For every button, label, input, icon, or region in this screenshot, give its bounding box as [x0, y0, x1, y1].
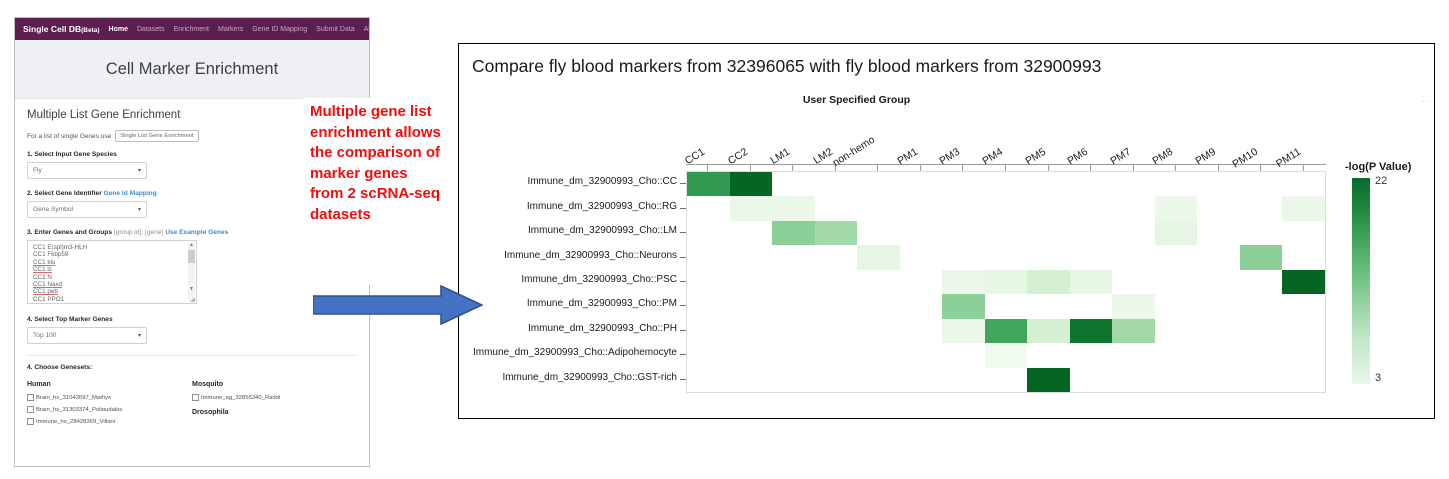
- colorbar-title: -log(P Value): [1345, 161, 1411, 173]
- heatmap-cell[interactable]: [1155, 196, 1198, 220]
- heatmap-cell[interactable]: [1282, 196, 1325, 220]
- y-axis-tick-label: Immune_dm_32900993_Cho::LM: [459, 225, 677, 236]
- identifier-label-text: 2. Select Gene Identifier: [27, 190, 102, 197]
- heatmap-cell[interactable]: [942, 270, 985, 294]
- nav-item-home[interactable]: Home: [109, 26, 128, 33]
- geneset-checkbox-item[interactable]: Brain_hs_31042697_Mathys: [27, 394, 192, 401]
- geneset-label: Immune_ag_32855340_Raddi: [201, 395, 280, 401]
- colorbar-max-label: 22: [1375, 175, 1387, 187]
- single-list-hint-text: For a list of single Genes use: [27, 133, 111, 140]
- genes-textarea-content: CC1 E(spl)m3-HLH CC1 Fkbp59 CC1 klu CC1 …: [28, 241, 196, 306]
- nav-item-markers[interactable]: Markers: [218, 26, 243, 33]
- geneset-label: Immune_hs_28428369_Villani: [36, 419, 115, 425]
- x-axis-title: User Specified Group: [459, 94, 1434, 106]
- species-value: Fly: [33, 167, 42, 174]
- genesets-section: 4. Choose Genesets: Human Brain_hs_31042…: [27, 355, 357, 430]
- page-header: Cell Marker Enrichment: [15, 40, 369, 99]
- brand-name: Single Cell DB: [23, 24, 81, 34]
- chevron-down-icon: ▾: [138, 332, 141, 339]
- scroll-up-icon[interactable]: ▲: [189, 242, 194, 248]
- nav-item-datasets[interactable]: Datasets: [137, 26, 165, 33]
- heatmap-cell[interactable]: [730, 196, 773, 220]
- figure-title: Compare fly blood markers from 32396065 …: [472, 56, 1101, 77]
- geneset-group-label: Drosophila: [192, 409, 357, 416]
- top-markers-select[interactable]: Top 100 ▾: [27, 327, 147, 344]
- scroll-down-icon[interactable]: ▼: [189, 286, 194, 292]
- identifier-value: Gene Symbol: [33, 206, 73, 213]
- callout-text: Multiple gene list enrichment allows the…: [303, 98, 448, 226]
- nav-item-submit-data[interactable]: Submit Data: [316, 26, 355, 33]
- checkbox-icon[interactable]: [192, 394, 199, 401]
- geneset-group-label: Mosquito: [192, 381, 357, 388]
- checkbox-icon[interactable]: [27, 394, 34, 401]
- geneset-checkbox-item[interactable]: Immune_ag_32855340_Raddi: [192, 394, 357, 401]
- heatmap-cell[interactable]: [1070, 319, 1113, 343]
- geneset-label: Brain_hs_31303374_Polioudakis: [36, 407, 122, 413]
- heatmap-cell[interactable]: [1112, 294, 1155, 318]
- gene-line: CC1 PPO1: [33, 296, 191, 303]
- single-list-gene-enrichment-button[interactable]: Single List Gene Enrichment: [115, 130, 198, 142]
- genes-scrollbar[interactable]: ▲ ▼: [188, 242, 195, 302]
- y-axis-tick-label: Immune_dm_32900993_Cho::PM: [459, 298, 677, 309]
- geneset-group-label: Human: [27, 381, 192, 388]
- geneset-checkbox-item[interactable]: Immune_hs_28428369_Villani: [27, 418, 192, 425]
- navbar: Single Cell DB(Beta) Home Datasets Enric…: [15, 18, 369, 40]
- gene-line: CC1 lz: [33, 266, 191, 273]
- brand-beta: (Beta): [81, 27, 99, 34]
- heatmap-cell[interactable]: [985, 343, 1028, 367]
- heatmap-plot-area[interactable]: [686, 171, 1326, 393]
- figure-corner-marks: ..: [1422, 97, 1430, 104]
- chevron-down-icon: ▾: [138, 206, 141, 213]
- gene-id-mapping-link[interactable]: Gene Id Mapping: [104, 190, 157, 197]
- genesets-header: 4. Choose Genesets:: [27, 364, 357, 371]
- checkbox-icon[interactable]: [27, 418, 34, 425]
- heatmap-cell[interactable]: [1027, 368, 1070, 392]
- y-axis-tick-label: Immune_dm_32900993_Cho::CC: [459, 176, 677, 187]
- page-title: Cell Marker Enrichment: [106, 60, 278, 79]
- y-axis-tick-label: Immune_dm_32900993_Cho::PSC: [459, 274, 677, 285]
- heatmap-cell[interactable]: [1240, 245, 1283, 269]
- heatmap-cell[interactable]: [687, 172, 730, 196]
- identifier-select[interactable]: Gene Symbol ▾: [27, 201, 147, 218]
- use-example-genes-link[interactable]: Use Example Genes: [165, 229, 228, 236]
- heatmap-cell[interactable]: [1027, 270, 1070, 294]
- checkbox-icon[interactable]: [27, 406, 34, 413]
- genes-textarea[interactable]: CC1 E(spl)m3-HLH CC1 Fkbp59 CC1 klu CC1 …: [27, 240, 197, 304]
- heatmap-cell[interactable]: [857, 245, 900, 269]
- geneset-column-mosquito: Mosquito Immune_ag_32855340_Raddi Drosop…: [192, 381, 357, 430]
- top-markers-label: 4. Select Top Marker Genes: [27, 316, 357, 323]
- heatmap-cell[interactable]: [772, 196, 815, 220]
- resize-grip-icon[interactable]: ◢: [190, 296, 195, 303]
- gene-line: CC1 peb: [33, 288, 191, 295]
- gene-line: CC1 Fkbp59: [33, 251, 191, 258]
- y-axis-tick-label: Immune_dm_32900993_Cho::GST-rich: [459, 372, 677, 383]
- gene-line: CC1 klu: [33, 259, 191, 266]
- heatmap-cell[interactable]: [1155, 221, 1198, 245]
- nav-item-gene-id-mapping[interactable]: Gene ID Mapping: [252, 26, 307, 33]
- top-markers-value: Top 100: [33, 332, 56, 339]
- geneset-label: Brain_hs_31042697_Mathys: [36, 395, 111, 401]
- nav-item-about[interactable]: About: [364, 26, 370, 33]
- colorbar-min-label: 3: [1375, 372, 1381, 384]
- genes-label-text: 3. Enter Genes and Groups: [27, 229, 112, 236]
- y-axis-tick-label: Immune_dm_32900993_Cho::RG: [459, 201, 677, 212]
- heatmap-cell[interactable]: [772, 221, 815, 245]
- heatmap-cell[interactable]: [1282, 270, 1325, 294]
- heatmap-cell[interactable]: [985, 270, 1028, 294]
- gene-line: CC1 N: [33, 274, 191, 281]
- blue-arrow-icon: [313, 285, 483, 325]
- heatmap-cell[interactable]: [1070, 270, 1113, 294]
- gene-line: CC1 Naxd: [33, 281, 191, 288]
- colorbar-gradient: [1352, 178, 1370, 384]
- x-axis-tick: [1303, 164, 1304, 171]
- gene-line: CC1 E(spl)m3-HLH: [33, 244, 191, 251]
- chevron-down-icon: ▾: [138, 167, 141, 174]
- geneset-checkbox-item[interactable]: Brain_hs_31303374_Polioudakis: [27, 406, 192, 413]
- brand-logo[interactable]: Single Cell DB(Beta): [23, 24, 100, 34]
- y-axis-tick-label: Immune_dm_32900993_Cho::PH: [459, 323, 677, 334]
- heatmap-cell[interactable]: [942, 294, 985, 318]
- heatmap-figure: Compare fly blood markers from 32396065 …: [458, 43, 1435, 419]
- y-axis-tick-label: Immune_dm_32900993_Cho::Neurons: [459, 250, 677, 261]
- heatmap-cell[interactable]: [942, 319, 985, 343]
- geneset-column-human: Human Brain_hs_31042697_Mathys Brain_hs_…: [27, 381, 192, 430]
- species-select[interactable]: Fly ▾: [27, 162, 147, 179]
- callout-box: Multiple gene list enrichment allows the…: [303, 98, 448, 285]
- genes-label-format: [group id], [gene]: [114, 229, 164, 236]
- scrollbar-thumb[interactable]: [188, 250, 195, 263]
- heatmap-cell[interactable]: [730, 172, 773, 196]
- heatmap-cell[interactable]: [985, 319, 1028, 343]
- nav-item-enrichment[interactable]: Enrichment: [174, 26, 209, 33]
- heatmap-cell[interactable]: [815, 221, 858, 245]
- heatmap-cell[interactable]: [1112, 319, 1155, 343]
- heatmap-cell[interactable]: [1027, 319, 1070, 343]
- y-axis-tick-label: Immune_dm_32900993_Cho::Adipohemocyte: [459, 347, 677, 358]
